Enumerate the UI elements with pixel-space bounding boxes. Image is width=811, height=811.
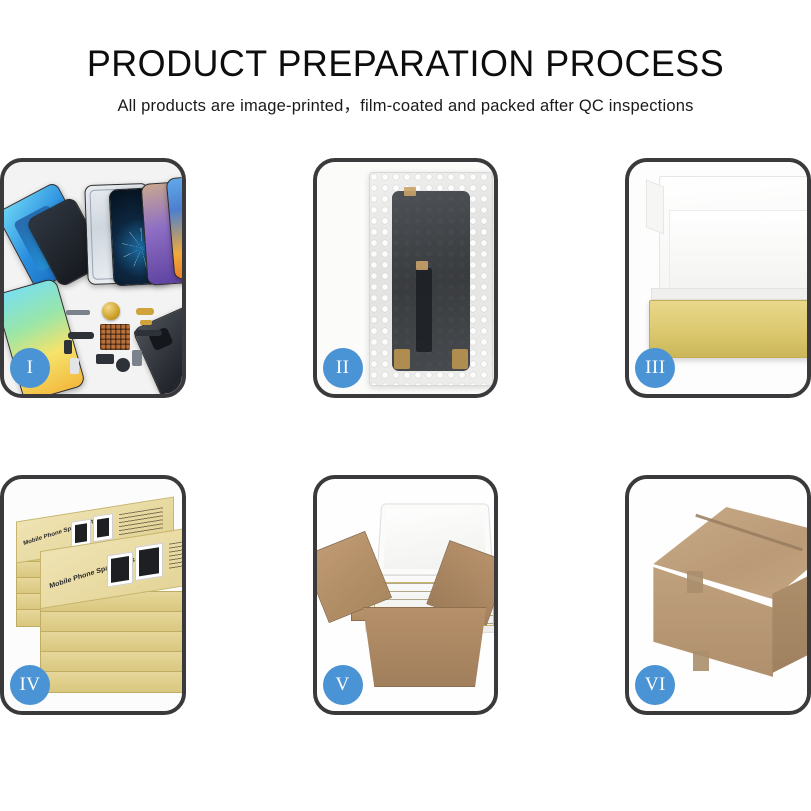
box-photo-front-b	[135, 543, 163, 581]
part-flex-cable-c	[134, 330, 162, 336]
box-inner-lip	[651, 288, 807, 300]
page-header: PRODUCT PREPARATION PROCESS All products…	[0, 0, 811, 117]
part-battery-cell	[132, 350, 142, 366]
chip-grid-part	[100, 324, 130, 350]
step-4-image: Mobile Phone Spare Parts Mobile Phone Sp…	[4, 479, 182, 711]
stacked-box-front-3	[40, 631, 182, 653]
step-panel-1[interactable]: I	[0, 158, 186, 398]
wrapped-flex-cable	[416, 268, 432, 352]
process-row-bottom: Mobile Phone Spare Parts Mobile Phone Sp…	[0, 475, 811, 715]
part-speaker-round	[116, 358, 130, 372]
page-subtitle: All products are image-printed，film-coat…	[0, 95, 811, 117]
step-2-image: II	[317, 162, 495, 394]
step-3-image: III	[629, 162, 807, 394]
step-panel-2[interactable]: II	[313, 158, 499, 398]
stacked-box-front-5	[40, 671, 182, 693]
carton-front-panel	[355, 607, 495, 687]
white-foam-sheet	[669, 210, 807, 296]
step-panel-6[interactable]: VI	[625, 475, 811, 715]
step-badge-1: I	[10, 348, 50, 388]
connector-right	[452, 349, 468, 369]
carton-tape-upper	[687, 571, 703, 593]
stacked-box-front-2	[40, 611, 182, 633]
part-camera-module	[96, 354, 114, 364]
part-gold-clip	[140, 320, 152, 325]
step-5-image: V	[317, 479, 495, 711]
yellow-box-tray	[649, 300, 807, 358]
part-speaker-mesh	[66, 310, 90, 315]
bubble-wrap-bag	[369, 172, 493, 386]
step-badge-2: II	[323, 348, 363, 388]
step-1-image: I	[4, 162, 182, 394]
gold-coin-part	[102, 302, 120, 320]
box-photo-front-a	[107, 551, 133, 587]
step-panel-3[interactable]: III	[625, 158, 811, 398]
tape-tab-middle	[416, 261, 428, 270]
tape-tab-top	[404, 187, 416, 196]
page-title: PRODUCT PREPARATION PROCESS	[12, 42, 799, 86]
part-flex-cable-b	[64, 340, 72, 354]
step-panel-5[interactable]: V	[313, 475, 499, 715]
step-badge-5: V	[323, 665, 363, 705]
process-grid: I II	[0, 158, 811, 792]
step-6-image: VI	[629, 479, 807, 711]
step-panel-4[interactable]: Mobile Phone Spare Parts Mobile Phone Sp…	[0, 475, 186, 715]
part-flex-cable-a	[68, 332, 94, 339]
step-badge-6: VI	[635, 665, 675, 705]
box-photo-rear-b	[93, 513, 113, 542]
step-badge-3: III	[635, 348, 675, 388]
process-row-top: I II	[0, 158, 811, 398]
box-spec-lines-front	[169, 537, 182, 570]
connector-left	[394, 349, 410, 369]
part-white-chip	[70, 358, 79, 374]
step-badge-4: IV	[10, 665, 50, 705]
carton-tape-lower	[693, 651, 709, 671]
part-gold-connector	[136, 308, 154, 315]
stacked-box-front-4	[40, 651, 182, 673]
